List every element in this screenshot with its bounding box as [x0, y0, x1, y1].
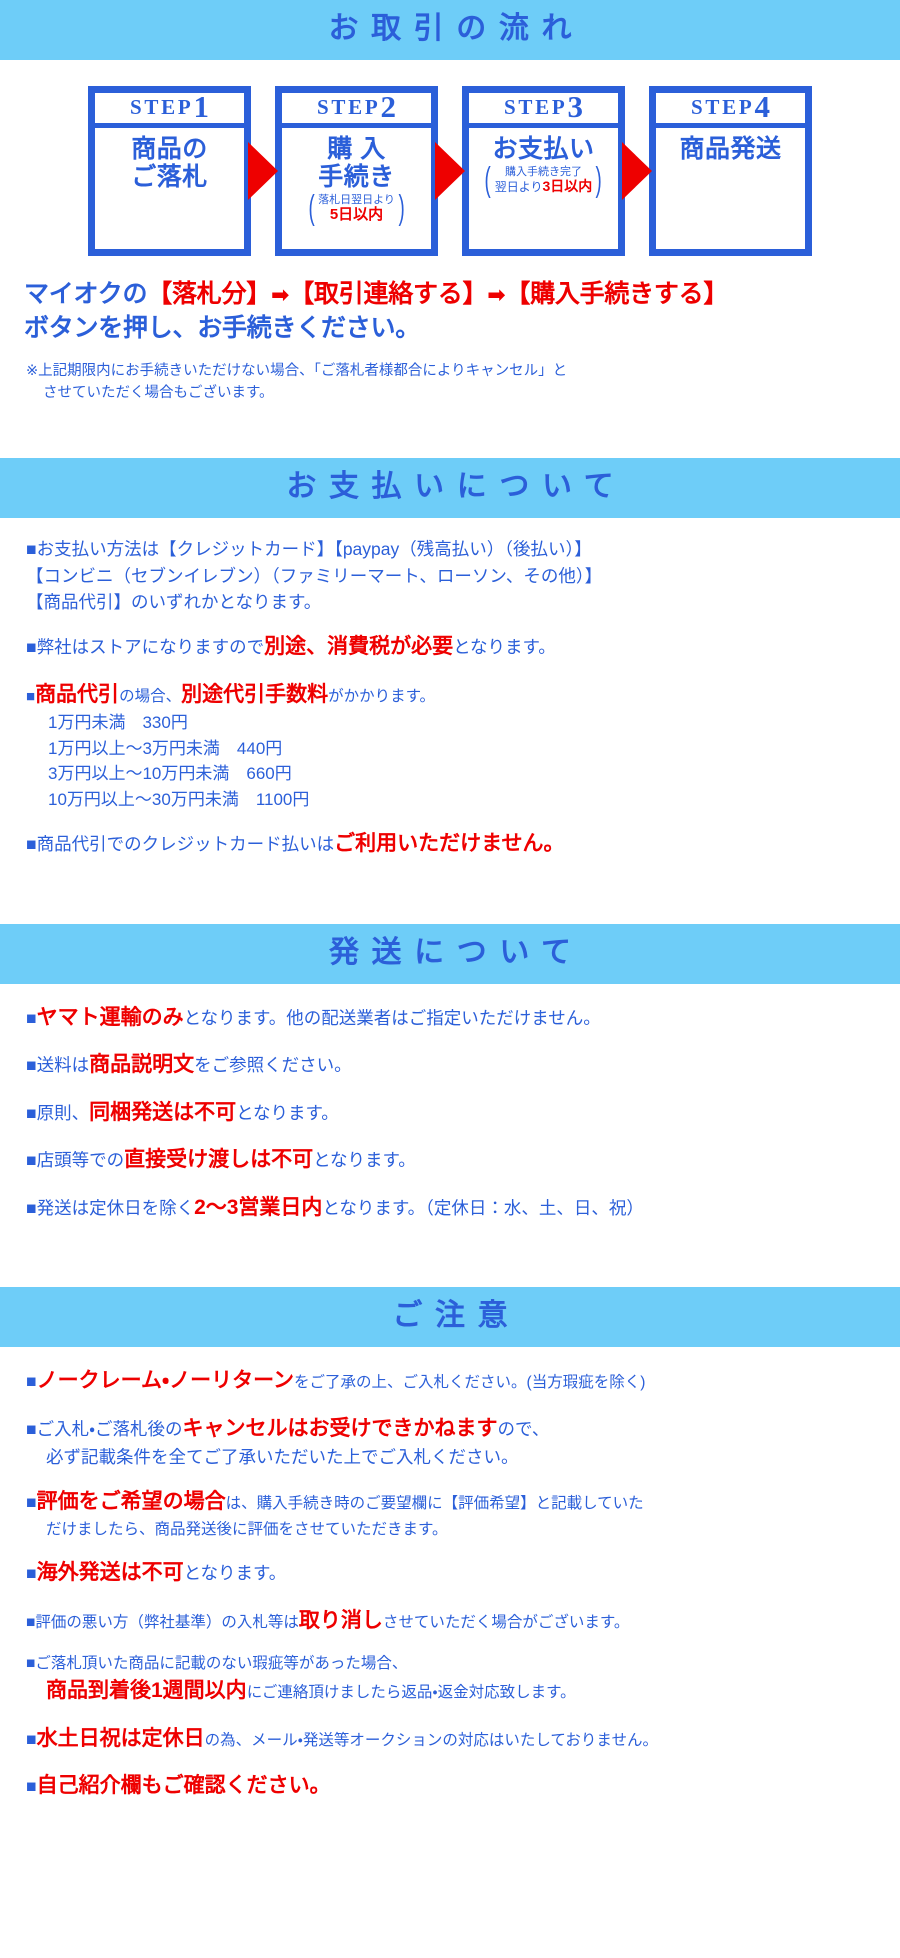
paren-left-icon-2: ( — [308, 195, 314, 222]
section-banner-caution: ご注意 — [0, 1287, 900, 1347]
step-note-3-line1: 購入手続き完了 — [505, 166, 582, 178]
payment-cod-fee-4: 10万円以上～30万円未満 1100円 — [26, 787, 876, 813]
shipping-item-3-red: 直接受け渡しは不可 — [124, 1148, 313, 1171]
step-box-1: STEP1 商品の ご落札 — [88, 86, 251, 256]
shipping-item-2: ■原則、同梱発送は不可となります。 — [26, 1097, 876, 1129]
caution-item-3: ■海外発送は不可となります。 — [26, 1557, 876, 1589]
shipping-item-3: ■店頭等での直接受け渡しは不可となります。 — [26, 1144, 876, 1176]
step-note-3-line2-pre: 翌日より — [495, 180, 543, 194]
cta-line1-b: 【落札分】 — [147, 280, 271, 308]
caution-item-5: ■ご落札頂いた商品に記載のない瑕疵等があった場合、 商品到着後1週間以内にご連絡… — [26, 1652, 876, 1707]
caution-item-4-post: させていただく場合がございます。 — [383, 1614, 629, 1631]
shipping-item-1-pre: ■送料は — [26, 1055, 89, 1075]
step-note-3-line2: 翌日より3日以内 — [495, 180, 593, 194]
step-title-2-line2: 手続き — [318, 163, 395, 191]
step-label-3: STEP3 — [469, 93, 618, 128]
step-title-2-line1: 購 入 — [318, 135, 395, 163]
step-flow-diagram: STEP1 商品の ご落札 STEP2 購 入 手続き ( — [0, 60, 900, 264]
cta-instruction: マイオクの【落札分】➡【取引連絡する】➡【購入手続きする】 ボタンを押し、お手続… — [0, 264, 900, 346]
caution-item-2: ■評価をご希望の場合は、購入手続き時のご要望欄に【評価希望】と記載していた だけ… — [26, 1486, 876, 1541]
paren-right-icon-3: ) — [596, 167, 602, 194]
step-box-2: STEP2 購 入 手続き ( 落札日翌日より 5日以内 ) — [275, 86, 438, 256]
caution-item-1-sub: 必ず記載条件を全てご了承いただいた上でご入札ください。 — [26, 1444, 876, 1470]
section-banner-payment: お支払いについて — [0, 458, 900, 518]
step-body-3: お支払い ( 購入手続き完了 翌日より3日以内 ) — [469, 128, 618, 249]
section-banner-flow: お取引の流れ — [0, 0, 900, 60]
payment-cod-post: がかかります。 — [328, 688, 435, 705]
payment-methods-line3: 【商品代引】のいずれかとなります。 — [26, 589, 876, 615]
shipping-item-0-red: ヤマト運輸のみ — [37, 1006, 184, 1029]
caution-item-0-pre: ■ — [26, 1371, 37, 1391]
caution-item-0: ■ノークレーム・ノーリターンをご了承の上、ご入札ください。(当方瑕疵を除く) — [26, 1365, 876, 1397]
caution-item-1: ■ご入札・ご落札後のキャンセルはお受けできかねますので、 必ず記載条件を全てご了… — [26, 1413, 876, 1471]
cta-line1-c: 【取引連絡する】 — [289, 280, 487, 308]
step-title-4: 商品発送 — [679, 135, 781, 163]
cta-line-1: マイオクの【落札分】➡【取引連絡する】➡【購入手続きする】 — [24, 278, 876, 312]
caution-item-1-post: ので、 — [498, 1419, 550, 1439]
caution-item-2-pre: ■ — [26, 1492, 37, 1512]
shipping-item-3-post: となります。 — [313, 1150, 416, 1170]
step-title-2: 購 入 手続き — [318, 135, 395, 191]
step-body-2: 購 入 手続き ( 落札日翌日より 5日以内 ) — [282, 128, 431, 249]
step-title-4-line1: 商品発送 — [679, 135, 781, 163]
step-prefix-4: STEP — [691, 95, 754, 119]
payment-tax-highlight: 別途、消費税が必要 — [264, 635, 453, 658]
step-label-4: STEP4 — [656, 93, 805, 128]
bullet-square-icon-cod: ■ — [26, 688, 35, 705]
shipping-item-2-pre: ■原則、 — [26, 1103, 89, 1123]
payment-cod-card-red: ご利用いただけません。 — [334, 832, 564, 855]
spacer-after-payment — [0, 870, 900, 924]
section-banner-shipping: 発送について — [0, 924, 900, 984]
paren-right-icon-2: ) — [398, 195, 404, 222]
arrow-right-icon-3 — [620, 142, 654, 200]
payment-cod-mid: の場合、 — [119, 688, 181, 705]
shipping-item-2-post: となります。 — [236, 1103, 339, 1123]
arrow-right-icon-1 — [246, 142, 280, 200]
cta-line1-a: マイオクの — [24, 280, 147, 308]
payment-methods-line1: ■お支払い方法は【クレジットカード】【paypay（残高払い）（後払い）】 — [26, 536, 876, 562]
paren-left-icon-3: ( — [485, 167, 491, 194]
step-note-2: ( 落札日翌日より 5日以内 ) — [306, 194, 407, 224]
step-label-2: STEP2 — [282, 93, 431, 128]
shipping-item-2-red: 同梱発送は不可 — [89, 1101, 236, 1124]
shipping-item-4: ■発送は定休日を除く2～3営業日内となります。（定休日：水、土、日、祝） — [26, 1192, 876, 1224]
caution-item-5-main: ■ご落札頂いた商品に記載のない瑕疵等があった場合、 — [26, 1652, 876, 1675]
payment-methods-line2: 【コンビニ（セブンイレブン）（ファミリーマート、ローソン、その他）】 — [26, 563, 876, 589]
shipping-item-0-post: となります。他の配送業者はご指定いただけません。 — [184, 1008, 601, 1028]
step-note-2-line1: 落札日翌日より — [318, 194, 395, 206]
cta-line1-d: 【購入手続きする】 — [505, 280, 728, 308]
shipping-item-1: ■送料は商品説明文をご参照ください。 — [26, 1049, 876, 1081]
caution-item-4: ■評価の悪い方（弊社基準）の入札等は取り消しさせていただく場合がございます。 — [26, 1605, 876, 1637]
payment-tax-pre: ■弊社はストアになりますので — [26, 637, 264, 657]
step-title-1-line2: ご落札 — [131, 163, 208, 191]
flow-deadline-note: ※上記期限内にお手続きいただけない場合、「ご落札者様都合によりキャンセル」と さ… — [0, 346, 900, 405]
shipping-item-1-post: をご参照ください。 — [194, 1055, 352, 1075]
shipping-item-3-pre: ■店頭等での — [26, 1150, 124, 1170]
payment-methods-item: ■お支払い方法は【クレジットカード】【paypay（残高払い）（後払い）】 【コ… — [26, 536, 876, 615]
caution-item-5-sub-red: 商品到着後1週間以内 — [46, 1679, 247, 1702]
payment-tax-post: となります。 — [453, 637, 556, 657]
caution-item-1-main: ■ご入札・ご落札後のキャンセルはお受けできかねますので、 — [26, 1413, 876, 1445]
step-label-1: STEP1 — [95, 93, 244, 128]
caution-item-2-post: は、購入手続き時のご要望欄に【評価希望】と記載していた — [226, 1495, 644, 1512]
arrow-right-icon-2 — [433, 142, 467, 200]
caution-item-3-red: 海外発送は不可 — [37, 1561, 184, 1584]
shipping-body: ■ヤマト運輸のみとなります。他の配送業者はご指定いただけません。 ■送料は商品説… — [0, 984, 900, 1234]
caution-item-2-main: ■評価をご希望の場合は、購入手続き時のご要望欄に【評価希望】と記載していた — [26, 1486, 876, 1518]
caution-item-6-pre: ■ — [26, 1729, 37, 1749]
step-title-3-line1: お支払い — [492, 135, 594, 163]
caution-item-7-pre: ■ — [26, 1776, 37, 1796]
caution-item-0-red: ノークレーム・ノーリターン — [37, 1369, 294, 1392]
step-note-3-line2-red: 3日以内 — [542, 178, 592, 194]
step-title-3: お支払い — [492, 135, 594, 163]
payment-cod-fee-2: 1万円以上～3万円未満 440円 — [26, 736, 876, 762]
caution-item-7-red: 自己紹介欄もご確認ください。 — [37, 1774, 331, 1797]
caution-item-0-post: をご了承の上、ご入札ください。(当方瑕疵を除く) — [294, 1374, 645, 1391]
cta-line-2: ボタンを押し、お手続きください。 — [24, 312, 876, 346]
caution-item-4-red: 取り消し — [299, 1609, 383, 1632]
step-prefix-2: STEP — [317, 95, 380, 119]
step-number-1: 1 — [193, 89, 209, 124]
auction-terms-page: お取引の流れ STEP1 商品の ご落札 STEP2 購 入 — [0, 0, 900, 1834]
shipping-item-4-post: となります。（定休日：水、土、日、祝） — [322, 1198, 643, 1218]
step-note-2-line2: 5日以内 — [330, 206, 383, 223]
payment-cod-fee-1: 1万円未満 330円 — [26, 710, 876, 736]
flow-deadline-note-line1: ※上記期限内にお手続きいただけない場合、「ご落札者様都合によりキャンセル」と — [26, 363, 567, 379]
shipping-item-4-red: 2～3営業日内 — [194, 1196, 322, 1219]
spacer-after-flow — [0, 404, 900, 458]
caution-item-5-sub: 商品到着後1週間以内にご連絡頂けましたら返品・返金対応致します。 — [26, 1675, 876, 1707]
shipping-item-0: ■ヤマト運輸のみとなります。他の配送業者はご指定いただけません。 — [26, 1002, 876, 1034]
step-prefix-3: STEP — [504, 95, 567, 119]
shipping-item-4-pre: ■発送は定休日を除く — [26, 1198, 194, 1218]
payment-cod-headline: ■商品代引の場合、別途代引手数料がかかります。 — [26, 679, 876, 711]
caution-item-6: ■水土日祝は定休日の為、メール・発送等オークションの対応はいたしておりません。 — [26, 1723, 876, 1755]
payment-cod-item: ■商品代引の場合、別途代引手数料がかかります。 1万円未満 330円 1万円以上… — [26, 679, 876, 813]
spacer-after-shipping — [0, 1233, 900, 1287]
payment-cod-fee-3: 3万円以上～10万円未満 660円 — [26, 761, 876, 787]
step-prefix-1: STEP — [130, 95, 193, 119]
payment-cod-card-item: ■商品代引でのクレジットカード払いはご利用いただけません。 — [26, 828, 876, 860]
caution-item-7: ■自己紹介欄もご確認ください。 — [26, 1770, 876, 1802]
caution-item-5-sub-post: にご連絡頂けましたら返品・返金対応致します。 — [247, 1684, 576, 1701]
payment-body: ■お支払い方法は【クレジットカード】【paypay（残高払い）（後払い）】 【コ… — [0, 518, 900, 869]
step-number-2: 2 — [380, 89, 396, 124]
caution-item-3-pre: ■ — [26, 1563, 37, 1583]
caution-item-3-post: となります。 — [184, 1563, 287, 1583]
flow-deadline-note-line2: させていただく場合もございます。 — [26, 382, 876, 404]
step-note-3: ( 購入手続き完了 翌日より3日以内 ) — [482, 166, 604, 195]
caution-item-4-pre: ■評価の悪い方（弊社基準）の入札等は — [26, 1614, 299, 1631]
step-box-4: STEP4 商品発送 — [649, 86, 812, 256]
caution-item-6-red: 水土日祝は定休日 — [37, 1727, 205, 1750]
shipping-item-1-red: 商品説明文 — [89, 1053, 194, 1076]
caution-item-2-red: 評価をご希望の場合 — [37, 1490, 226, 1513]
step-body-4: 商品発送 — [656, 128, 805, 249]
step-title-1: 商品の ご落札 — [131, 135, 208, 191]
step-box-3: STEP3 お支払い ( 購入手続き完了 翌日より3日以内 ) — [462, 86, 625, 256]
payment-cod-red2: 別途代引手数料 — [181, 683, 328, 706]
step-body-1: 商品の ご落札 — [95, 128, 244, 249]
cta-arrow-icon-2: ➡ — [487, 282, 505, 307]
payment-cod-red1: 商品代引 — [35, 683, 119, 706]
step-title-1-line1: 商品の — [131, 135, 208, 163]
caution-item-1-pre: ■ご入札・ご落札後の — [26, 1419, 183, 1439]
step-number-4: 4 — [754, 89, 770, 124]
spacer-page-bottom — [0, 1812, 900, 1834]
cta-arrow-icon-1: ➡ — [271, 282, 289, 307]
payment-cod-card-pre: ■商品代引でのクレジットカード払いは — [26, 834, 334, 854]
payment-tax-item: ■弊社はストアになりますので別途、消費税が必要となります。 — [26, 631, 876, 663]
caution-body: ■ノークレーム・ノーリターンをご了承の上、ご入札ください。(当方瑕疵を除く) ■… — [0, 1347, 900, 1812]
caution-item-1-red: キャンセルはお受けできかねます — [183, 1417, 498, 1440]
caution-item-6-post: の為、メール・発送等オークションの対応はいたしておりません。 — [205, 1732, 658, 1749]
caution-item-2-sub: だけましたら、商品発送後に評価をさせていただきます。 — [26, 1518, 876, 1541]
step-number-3: 3 — [567, 89, 583, 124]
shipping-item-0-pre: ■ — [26, 1008, 37, 1028]
